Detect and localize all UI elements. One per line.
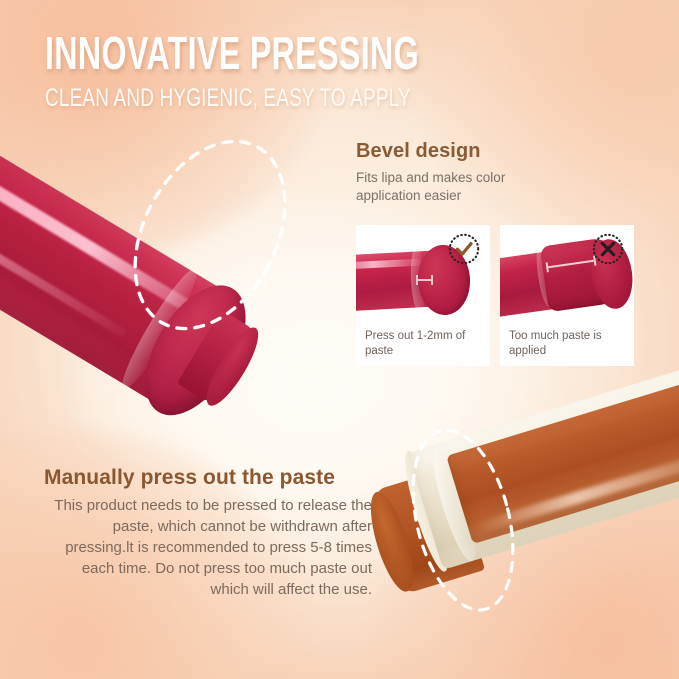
cream-tube-illustration bbox=[357, 319, 679, 673]
page-title: INNOVATIVE PRESSING bbox=[45, 28, 419, 78]
product-infographic: INNOVATIVE PRESSING CLEAN AND HYGIENIC, … bbox=[0, 0, 679, 679]
comparison-panel-incorrect: Too much paste is applied bbox=[500, 225, 634, 366]
header: INNOVATIVE PRESSING CLEAN AND HYGIENIC, … bbox=[45, 28, 579, 112]
cross-icon bbox=[591, 232, 625, 266]
panel-caption-incorrect: Too much paste is applied bbox=[509, 329, 627, 358]
comparison-panels: Press out 1-2mm of paste Too much paste … bbox=[356, 225, 635, 366]
comparison-panel-correct: Press out 1-2mm of paste bbox=[356, 225, 490, 366]
measurement-marker-small bbox=[416, 275, 433, 285]
manual-press-body: This product needs to be pressed to rele… bbox=[44, 495, 372, 600]
manual-press-section: Manually press out the paste This produc… bbox=[44, 466, 372, 600]
bevel-design-title: Bevel design bbox=[356, 140, 641, 163]
panel-caption-correct: Press out 1-2mm of paste bbox=[365, 329, 483, 358]
page-subtitle: CLEAN AND HYGIENIC, EASY TO APPLY bbox=[45, 84, 451, 112]
bevel-design-section: Bevel design Fits lipa and makes color a… bbox=[356, 140, 641, 205]
manual-press-title: Manually press out the paste bbox=[44, 466, 372, 490]
check-icon bbox=[447, 232, 481, 266]
bevel-design-description: Fits lipa and makes color application ea… bbox=[356, 169, 571, 205]
